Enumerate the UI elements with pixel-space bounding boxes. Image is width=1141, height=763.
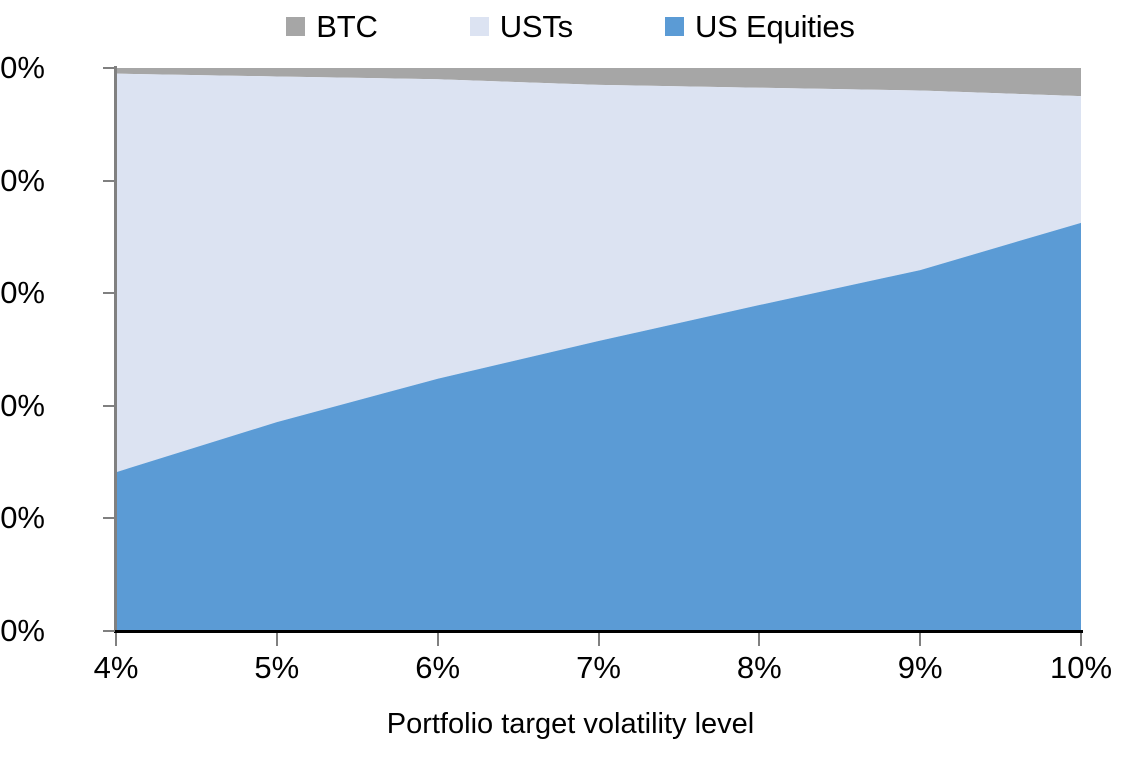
legend-swatch-us-equities <box>665 17 684 36</box>
legend-swatch-usts <box>470 17 489 36</box>
plot-area <box>116 68 1081 631</box>
y-tick-label: 40% <box>0 390 45 421</box>
x-tick-label: 5% <box>254 652 299 683</box>
x-tick-mark <box>758 633 760 646</box>
y-tick-label: 0% <box>0 615 45 646</box>
y-tick-label: 80% <box>0 165 45 196</box>
y-tick-mark <box>103 67 115 69</box>
stacked-area-svg <box>116 68 1081 631</box>
x-tick-mark <box>1080 633 1082 646</box>
x-tick-label: 10% <box>1050 652 1112 683</box>
y-tick-mark <box>103 292 115 294</box>
legend-item-usts[interactable]: USTs <box>470 11 573 42</box>
legend-item-us-equities[interactable]: US Equities <box>665 11 855 42</box>
chart-container: BTC USTs US Equities 0%20%40%60%80%100% … <box>0 0 1141 763</box>
x-tick-mark <box>919 633 921 646</box>
x-tick-mark <box>276 633 278 646</box>
y-axis-line <box>114 66 117 633</box>
y-tick-label: 100% <box>0 52 45 83</box>
y-tick-mark <box>103 405 115 407</box>
x-tick-label: 4% <box>94 652 139 683</box>
y-tick-label: 60% <box>0 277 45 308</box>
chart-legend: BTC USTs US Equities <box>0 6 1141 46</box>
x-tick-label: 9% <box>898 652 943 683</box>
x-axis-title: Portfolio target volatility level <box>0 708 1141 740</box>
y-tick-mark <box>103 630 115 632</box>
x-tick-label: 6% <box>415 652 460 683</box>
x-tick-label: 7% <box>576 652 621 683</box>
x-tick-mark <box>437 633 439 646</box>
legend-swatch-btc <box>286 17 305 36</box>
y-tick-mark <box>103 517 115 519</box>
legend-item-btc[interactable]: BTC <box>286 11 377 42</box>
y-tick-mark <box>103 180 115 182</box>
legend-label-btc: BTC <box>316 11 377 42</box>
x-tick-mark <box>115 633 117 646</box>
legend-label-usts: USTs <box>500 11 573 42</box>
x-tick-mark <box>598 633 600 646</box>
legend-label-us-equities: US Equities <box>695 11 855 42</box>
y-tick-label: 20% <box>0 502 45 533</box>
x-tick-label: 8% <box>737 652 782 683</box>
